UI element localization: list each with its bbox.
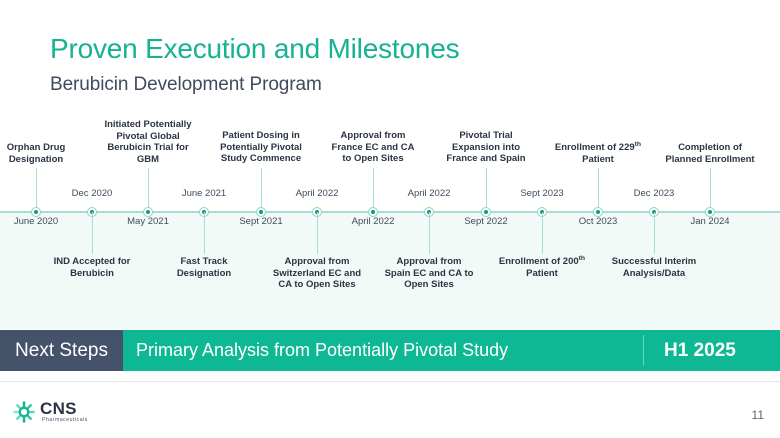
timeline-event-label: IND Accepted for Berubicin [46,256,138,279]
timeline-stem [148,168,149,207]
timeline-stem [204,212,205,254]
timeline-stem [486,168,487,207]
timeline-date-label: April 2022 [408,188,451,199]
timeline-event-label: Successful Interim Analysis/Data [608,256,700,279]
timeline-date-label: April 2022 [296,188,339,199]
timeline-date-label: June 2021 [182,188,226,199]
timeline-date-label: May 2021 [127,216,169,227]
timeline-axis [0,211,780,213]
cns-tagline: Pharmaceuticals [42,417,88,423]
timeline-event-label: Initiated Potentially Pivotal Global Ber… [102,119,194,165]
timeline-event-label: Approval from Switzerland EC and CA to O… [271,256,363,291]
timeline-event-label: Patient Dosing in Potentially Pivotal St… [215,130,307,165]
timeline-date-label: June 2020 [14,216,58,227]
timeline-stem [317,212,318,254]
timeline-event-label: Enrollment of 229th Patient [552,142,644,165]
next-steps-label: Next Steps [0,330,123,371]
timeline-event-label: Pivotal Trial Expansion into France and … [440,130,532,165]
timeline-date-label: Sept 2023 [520,188,563,199]
timeline-stem [429,212,430,254]
next-steps-date: H1 2025 [664,330,736,371]
footer-divider [0,381,780,382]
timeline-date-label: Jan 2024 [690,216,729,227]
timeline-stem [654,212,655,254]
timeline-event-label: Approval from Spain EC and CA to Open Si… [383,256,475,291]
timeline-event-label: Orphan Drug Designation [0,142,82,165]
timeline-event-label: Completion of Planned Enrollment [664,142,756,165]
timeline-date-label: Sept 2022 [464,216,507,227]
timeline-event-label: Approval from France EC and CA to Open S… [327,130,419,165]
timeline-date-label: Dec 2023 [634,188,675,199]
cns-starburst-icon [12,400,36,424]
cns-logo: CNS Pharmaceuticals [12,398,112,428]
timeline-date-label: April 2022 [352,216,395,227]
page-number: 11 [752,408,764,422]
next-steps-bar: Next Steps Primary Analysis from Potenti… [0,330,780,371]
slide-canvas: Proven Execution and Milestones Berubici… [0,0,780,438]
next-steps-divider [643,335,644,366]
milestone-timeline: June 2020Orphan Drug DesignationDec 2020… [0,120,780,320]
timeline-stem [710,168,711,207]
page-title: Proven Execution and Milestones [50,33,459,65]
timeline-stem [373,168,374,207]
timeline-event-label: Enrollment of 200th Patient [496,256,588,279]
timeline-stem [36,168,37,207]
page-subtitle: Berubicin Development Program [50,74,322,96]
timeline-date-label: Sept 2021 [239,216,282,227]
timeline-event-label: Fast Track Designation [158,256,250,279]
next-steps-body: Primary Analysis from Potentially Pivota… [123,330,780,371]
timeline-stem [92,212,93,254]
timeline-stem [542,212,543,254]
timeline-date-label: Dec 2020 [72,188,113,199]
timeline-date-label: Oct 2023 [579,216,618,227]
cns-wordmark: CNS [40,400,77,417]
next-steps-text: Primary Analysis from Potentially Pivota… [136,330,508,371]
timeline-stem [598,168,599,207]
timeline-stem [261,168,262,207]
